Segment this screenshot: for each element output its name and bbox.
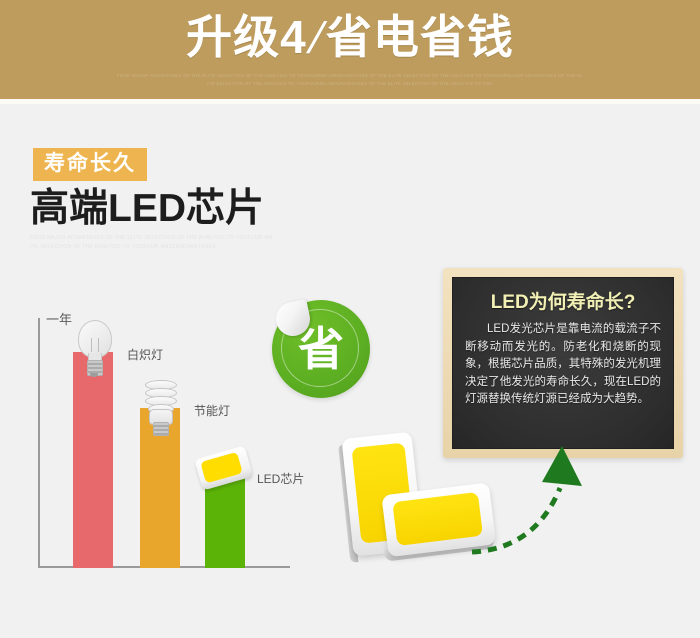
banner-subtitle-line1: FOUR MAJOR ADVANTAGES OF THE ELITE SELEC… [117,73,583,78]
blackboard-body-text: LED发光芯片是靠电流的载流子不断移动而发光的。防老化和烧断的现象，根据芯片品质… [465,321,661,409]
blackboard-surface: LED为何寿命长? LED发光芯片是靠电流的载流子不断移动而发光的。防老化和烧断… [452,277,674,449]
section-tag-badge: 寿命长久 [33,148,147,181]
cfl-screw-base [153,422,169,436]
chart-label-led: LED芯片 [257,472,304,486]
chart-label-cfl: 节能灯 [194,404,230,418]
lifespan-bar-chart: 一年 白炽灯 节能灯 LED芯片 [20,300,310,600]
banner-title-tail: 省电省钱 [326,11,514,63]
incandescent-bulb-icon [74,320,114,378]
chart-label-incandescent: 白炽灯 [127,348,163,362]
page-title: 高端LED芯片 [30,186,264,232]
arrow-head [542,446,582,486]
chart-y-axis-label: 一年 [46,312,72,328]
chart-y-axis [38,318,40,568]
section-subtitle-line1: FOUR MAJOR ADVANTAGES OF THE ELITE SELEC… [30,235,273,241]
arrow-dashed-path [472,488,560,552]
header-banner: 升级4/省电省钱 FOUR MAJOR ADVANTAGES OF THE EL… [0,0,700,99]
blackboard-title: LED为何寿命长? [465,291,661,315]
bulb-tip [90,373,98,377]
save-sticker-badge: 省 [272,300,370,398]
section-subtitle-line2: ITE SELECTION OF THE ANALYSIS TO YOUFOUR… [30,243,273,252]
banner-title-main: 升级4 [186,11,307,63]
banner-subtitle-line2: ITE SELECTION OF THE ANALYSIS TO YOUFOUR… [0,80,700,88]
bulb-filament [91,338,99,352]
banner-title: 升级4/省电省钱 [0,4,700,72]
chart-bar-incandescent [73,352,113,568]
section-subtitle: FOUR MAJOR ADVANTAGES OF THE ELITE SELEC… [30,234,273,252]
banner-subtitle: FOUR MAJOR ADVANTAGES OF THE ELITE SELEC… [0,72,700,88]
cfl-bulb-icon [140,378,180,438]
page-root: 升级4/省电省钱 FOUR MAJOR ADVANTAGES OF THE EL… [0,0,700,638]
green-dashed-arrow-icon [470,440,630,565]
